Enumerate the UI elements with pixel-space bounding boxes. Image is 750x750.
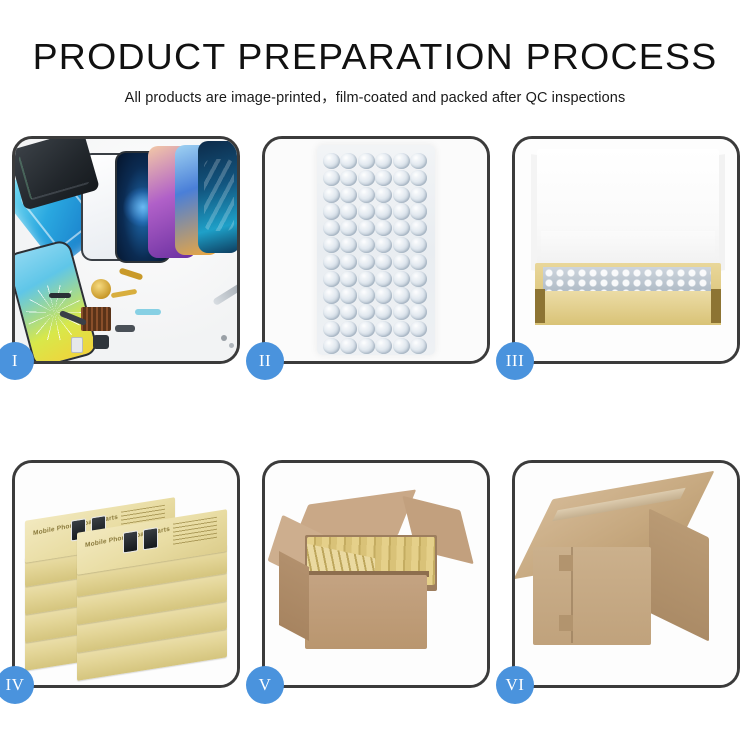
bubble <box>323 187 340 203</box>
bubble <box>410 271 427 287</box>
bubble <box>410 203 427 219</box>
bubble <box>323 271 340 287</box>
step-image-bubble-wrap <box>265 139 487 361</box>
bubble <box>340 170 357 186</box>
step-panel-2: II <box>262 136 490 364</box>
ribbon-cable-icon <box>135 309 161 315</box>
screw-icon-2 <box>229 343 234 348</box>
bubble <box>340 220 357 236</box>
flex-cable-icon-1 <box>119 267 144 280</box>
step-image-open-flat-box <box>515 139 737 361</box>
bubble <box>375 304 392 320</box>
step-image-open-carton <box>265 463 487 685</box>
phone-display-teal-icon <box>198 141 237 253</box>
step-image-sealed-carton <box>515 463 737 685</box>
bubble <box>358 170 375 186</box>
bubble <box>323 203 340 219</box>
step-panel-5: V <box>262 460 490 688</box>
carton-side-face <box>279 551 309 641</box>
page-title: PRODUCT PREPARATION PROCESS <box>0 36 750 77</box>
box-stack: Mobile Phone Spare Parts Mobile Phone Sp… <box>21 479 233 669</box>
bubble <box>410 187 427 203</box>
bubble <box>410 170 427 186</box>
step-panel-6: VI <box>512 460 740 688</box>
bubble <box>393 254 410 270</box>
carton-handle-notch-bottom <box>559 615 573 631</box>
bubble <box>410 254 427 270</box>
bubble <box>323 321 340 337</box>
carton-front-face <box>533 547 651 645</box>
tweezers-icon <box>212 279 237 306</box>
bubble <box>375 187 392 203</box>
bubble <box>393 321 410 337</box>
bubble <box>393 187 410 203</box>
bubble <box>358 254 375 270</box>
bubble <box>375 153 392 169</box>
step-image-stacked-boxes: Mobile Phone Spare Parts Mobile Phone Sp… <box>15 463 237 685</box>
bubble <box>340 321 357 337</box>
copper-coil-icon <box>91 279 111 299</box>
bubble <box>410 321 427 337</box>
step-image-phone-parts <box>15 139 237 361</box>
box-tray-front-face <box>535 291 721 325</box>
bubble <box>323 254 340 270</box>
bubble <box>375 338 392 354</box>
box-phone-graphic <box>123 530 138 553</box>
bubble <box>375 321 392 337</box>
box-corner-right <box>711 289 721 323</box>
page-subtitle: All products are image-printed，film-coat… <box>0 86 750 107</box>
bubble <box>323 304 340 320</box>
bubble <box>410 304 427 320</box>
bubble <box>393 170 410 186</box>
bubble <box>323 237 340 253</box>
bubble <box>393 237 410 253</box>
bubble <box>358 304 375 320</box>
step-panel-1: I <box>12 136 240 364</box>
bubble <box>340 153 357 169</box>
camera-module-icon <box>93 335 109 349</box>
bubble <box>410 220 427 236</box>
screw-icon-1 <box>221 335 227 341</box>
box-phone-graphic <box>143 527 158 550</box>
bubble <box>410 237 427 253</box>
carton-right-face <box>649 508 709 641</box>
bubble <box>358 187 375 203</box>
bubble <box>375 220 392 236</box>
bubble <box>393 338 410 354</box>
bubble <box>393 220 410 236</box>
connector-icon <box>115 325 135 332</box>
step-panel-4: Mobile Phone Spare Parts Mobile Phone Sp… <box>12 460 240 688</box>
bubble <box>393 271 410 287</box>
carton-handle-notch-top <box>559 555 573 571</box>
bubble <box>410 287 427 303</box>
bubble <box>323 153 340 169</box>
bubble <box>323 170 340 186</box>
bubble-grid <box>323 153 427 349</box>
bubble <box>340 271 357 287</box>
bubble <box>410 153 427 169</box>
bubble <box>358 153 375 169</box>
product-preparation-process-page: PRODUCT PREPARATION PROCESS All products… <box>0 0 750 750</box>
bubble <box>358 287 375 303</box>
carton-front-face <box>305 575 427 649</box>
step-badge-4: IV <box>0 666 34 704</box>
bubble <box>358 271 375 287</box>
bubble <box>358 321 375 337</box>
bubble <box>340 304 357 320</box>
bubble <box>375 203 392 219</box>
bubble <box>410 338 427 354</box>
bubble <box>340 254 357 270</box>
bubble <box>323 220 340 236</box>
bubble <box>393 287 410 303</box>
step-badge-5: V <box>246 666 284 704</box>
bubble <box>393 304 410 320</box>
step-badge-3: III <box>496 342 534 380</box>
page-header: PRODUCT PREPARATION PROCESS All products… <box>0 0 750 107</box>
bubble <box>375 287 392 303</box>
bubble <box>358 220 375 236</box>
box-corner-left <box>535 289 545 323</box>
bubble <box>323 338 340 354</box>
step-badge-1: I <box>0 342 34 380</box>
bubble <box>375 271 392 287</box>
bubble <box>340 187 357 203</box>
bubble <box>393 203 410 219</box>
bubble <box>323 287 340 303</box>
bubble <box>375 254 392 270</box>
box-spec-lines <box>173 517 217 546</box>
step-badge-2: II <box>246 342 284 380</box>
bubble <box>358 203 375 219</box>
step-badge-6: VI <box>496 666 534 704</box>
bubble <box>375 237 392 253</box>
flex-cable-icon-2 <box>111 289 137 298</box>
bubble <box>340 237 357 253</box>
bubble <box>358 237 375 253</box>
bubble <box>340 203 357 219</box>
bubble <box>358 338 375 354</box>
flex-cable-icon-3 <box>49 293 71 298</box>
process-steps-grid: I II III <box>12 136 740 688</box>
bubble <box>393 153 410 169</box>
step-panel-3: III <box>512 136 740 364</box>
bubble <box>340 287 357 303</box>
bubble <box>375 170 392 186</box>
sim-tray-icon <box>71 337 83 353</box>
